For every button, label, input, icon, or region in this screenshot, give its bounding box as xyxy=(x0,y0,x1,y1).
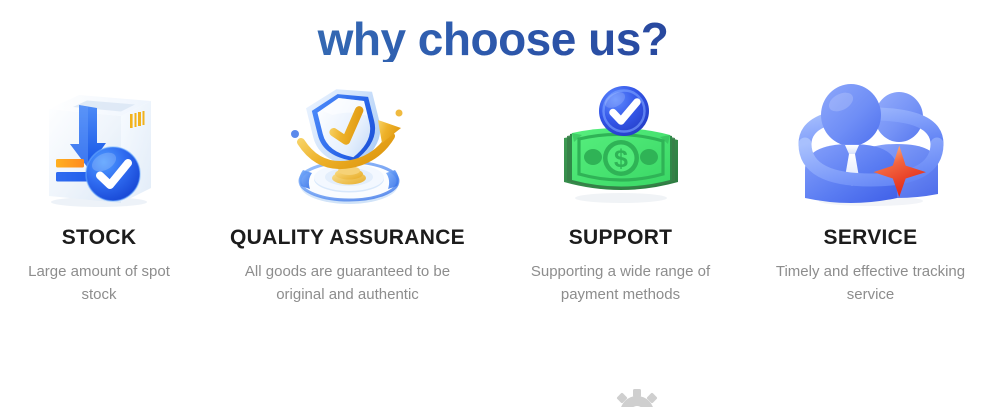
banknotes-with-check-badge-icon: $ xyxy=(546,82,696,210)
feature-description: Timely and effective tracking service xyxy=(763,261,978,306)
feature-title: SUPPORT xyxy=(569,226,673,250)
feature-description: Large amount of spot stock xyxy=(9,261,189,306)
feature-title: SERVICE xyxy=(824,226,918,250)
svg-text:$: $ xyxy=(614,145,628,173)
feature-list: STOCK Large amount of spot stock xyxy=(0,82,986,306)
shield-check-with-arrow-icon xyxy=(273,82,423,210)
box-with-check-badge-icon xyxy=(24,82,174,210)
feature-item-support: $ SUPPORT Supporting a wide range of pay… xyxy=(513,82,728,306)
feature-description: All goods are guaranteed to be original … xyxy=(240,261,455,306)
feature-item-service: SERVICE Timely and effective tracking se… xyxy=(763,82,978,306)
feature-item-quality-assurance: QUALITY ASSURANCE All goods are guarante… xyxy=(210,82,485,306)
page-title: why choose us? xyxy=(0,0,986,62)
feature-title: STOCK xyxy=(62,226,137,250)
feature-title: QUALITY ASSURANCE xyxy=(230,226,465,250)
people-with-ring-and-sparkle-icon xyxy=(796,82,946,210)
feature-item-stock: STOCK Large amount of spot stock xyxy=(4,82,194,306)
feature-description: Supporting a wide range of payment metho… xyxy=(513,261,728,306)
gear-icon xyxy=(612,388,662,407)
